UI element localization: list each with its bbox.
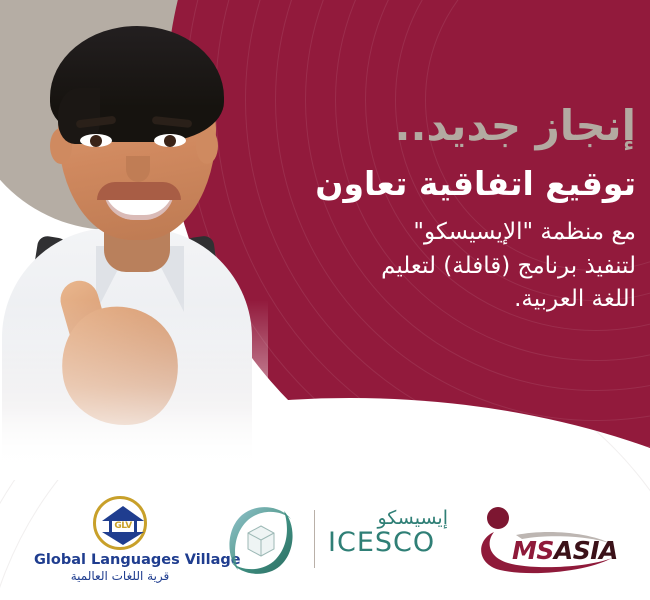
body-line-2: لتنفيذ برنامج (قافلة) لتعليم: [216, 250, 636, 283]
glv-monogram: GLV: [109, 519, 137, 533]
msasia-asia: ASIA: [554, 536, 618, 565]
logo-strip: GLV Global Languages Village قرية اللغات…: [0, 490, 650, 586]
logo-icesco: إيسيسكو ICESCO: [222, 500, 448, 580]
subtitle: توقيع اتفاقية تعاون: [216, 166, 636, 202]
glv-name-en: Global Languages Village: [34, 553, 206, 569]
logo-global-languages-village: GLV Global Languages Village قرية اللغات…: [34, 496, 206, 584]
nose: [126, 156, 150, 182]
icesco-name-en: ICESCO: [328, 529, 448, 557]
eye-left: [80, 134, 112, 147]
icesco-wordmark: إيسيسكو ICESCO: [328, 508, 448, 557]
icesco-swoosh-icon: [222, 502, 300, 580]
logo-ms-asia: MSASIA: [466, 502, 626, 576]
photo-fade-overlay: [0, 300, 268, 480]
icesco-name-ar: إيسيسكو: [328, 508, 448, 529]
msasia-ms: MS: [512, 536, 554, 565]
body-line-1: مع منظمة "الإيسيسكو": [216, 216, 636, 249]
eye-right: [154, 134, 186, 147]
cap-base: [102, 532, 144, 545]
ear-right: [196, 128, 218, 164]
glv-name-ar: قرية اللغات العالمية: [34, 569, 206, 584]
msasia-wordmark: MSASIA: [512, 536, 618, 565]
graduation-cap-icon: GLV: [93, 496, 147, 550]
page-title: إنجاز جديد..: [216, 104, 636, 148]
promotional-poster: إنجاز جديد.. توقيع اتفاقية تعاون مع منظم…: [0, 0, 650, 600]
headline-block: إنجاز جديد.. توقيع اتفاقية تعاون مع منظم…: [216, 104, 636, 316]
body-line-3: اللغة العربية.: [216, 283, 636, 316]
logo-divider: [314, 510, 315, 568]
